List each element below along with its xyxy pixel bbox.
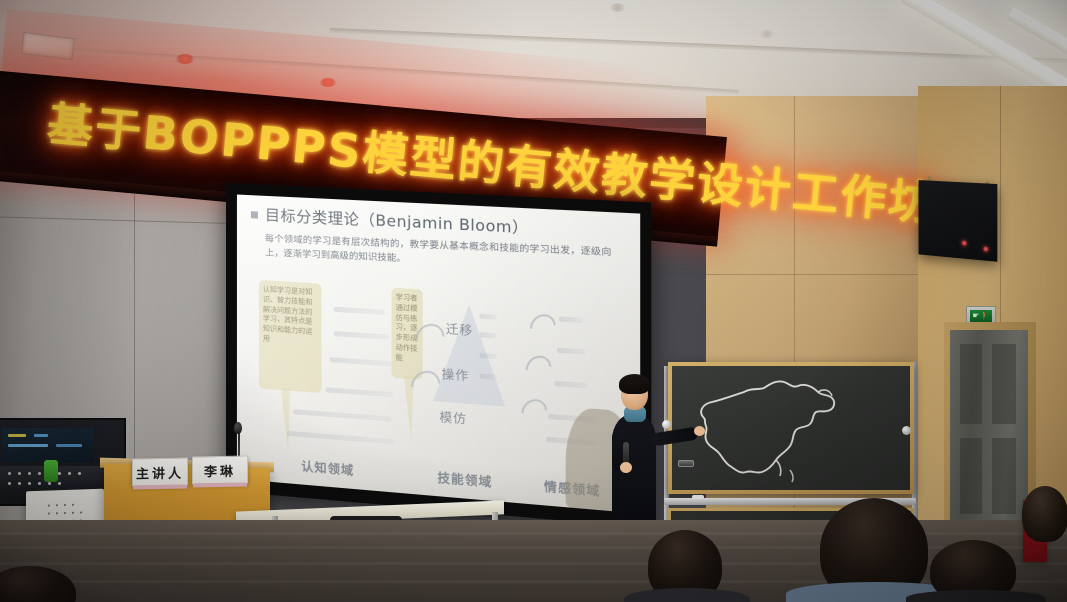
door-panel <box>960 438 982 514</box>
slide-arrow-arc <box>516 394 552 430</box>
name-card-speaker-text: 李琳 <box>204 460 236 480</box>
ceiling-downlight <box>320 78 336 87</box>
wall-mounted-speaker <box>918 180 997 262</box>
av-monitor-screen <box>2 428 94 462</box>
slide-arrow-arc <box>520 351 556 387</box>
blackboard-adjust-knob[interactable] <box>902 426 911 435</box>
slide-faint-row <box>330 357 392 366</box>
slide-callout-tail <box>281 388 290 451</box>
slide-faint-row <box>480 353 497 359</box>
presenter-hair <box>619 374 650 394</box>
slide-level-label-0: 迁移 <box>446 320 473 339</box>
slide-faint-row <box>334 307 385 315</box>
speaker-led-indicator <box>962 240 967 245</box>
ceiling-downlight <box>176 54 194 64</box>
slide-faint-row <box>287 431 393 445</box>
green-equipment-light <box>44 460 58 482</box>
slide-body-text: 每个领域的学习是有层次结构的，教学要从基本概念和技能的学习出发，逐级向上，逐渐学… <box>265 232 612 275</box>
side-door[interactable] <box>950 330 1028 530</box>
slide-faint-row <box>559 316 583 323</box>
slide-callout-cognitive: 认知学习是对知识、智力技能和解决问题方法的学习，其特点是知识和能力的运用 <box>259 280 322 393</box>
slide-column-label-cognitive: 认知领域 <box>301 457 354 479</box>
lecture-hall-photo: 基于BOPPPS模型的有效教学设计工作坊 ☛🚶 目标分类理论（Benjamin … <box>0 0 1067 602</box>
monitor-blip <box>34 434 48 437</box>
wall-seam <box>0 217 248 225</box>
speaker-led-indicator <box>983 246 988 252</box>
name-card-role: 主讲人 <box>132 458 188 487</box>
slide-arrow-arc <box>525 309 561 345</box>
presenter-pointing-hand <box>694 426 705 436</box>
door-panel <box>992 344 1016 424</box>
slide-faint-row <box>326 387 394 397</box>
name-card-role-text: 主讲人 <box>136 462 184 482</box>
slide-level-label-2: 模仿 <box>439 408 466 428</box>
projection-screen: 目标分类理论（Benjamin Bloom） 每个领域的学习是有层次结构的，教学… <box>226 183 651 528</box>
china-map-chalk-drawing <box>672 366 910 490</box>
door-panel <box>992 438 1016 514</box>
slide-faint-row <box>334 331 390 340</box>
slide-faint-row <box>293 409 391 422</box>
slide-bullet-icon <box>251 211 258 218</box>
ceiling-downlight <box>610 3 625 12</box>
audience-head <box>1022 486 1067 542</box>
slide-faint-row <box>480 332 497 338</box>
ceiling-downlight <box>760 30 774 38</box>
monitor-blip <box>8 444 48 447</box>
monitor-blip <box>8 434 26 437</box>
name-card-speaker: 李琳 <box>192 456 248 485</box>
slide-faint-row <box>555 381 588 389</box>
exit-sign-panel: ☛🚶 <box>970 310 992 323</box>
wood-seam <box>1000 86 1001 336</box>
slide-level-label-1: 操作 <box>442 365 469 384</box>
running-person-exit-icon: ☛🚶 <box>972 312 989 320</box>
wood-seam <box>706 274 918 275</box>
slide-faint-row <box>480 374 497 380</box>
slide-column-label-skills: 技能领域 <box>437 468 492 490</box>
slide-surface: 目标分类理论（Benjamin Bloom） 每个领域的学习是有层次结构的，教学… <box>237 195 640 514</box>
blackboard-surface <box>672 366 910 490</box>
audience-shoulders <box>906 590 1046 602</box>
podium-microphone[interactable] <box>234 422 242 434</box>
presenter-left-hand <box>620 462 632 473</box>
slide-faint-row <box>557 348 585 355</box>
slide-faint-row <box>480 314 497 320</box>
presenter-right-arm-pointing <box>651 426 698 446</box>
blackboard-frame <box>668 362 914 494</box>
door-panel <box>960 344 982 424</box>
monitor-blip <box>56 444 82 447</box>
